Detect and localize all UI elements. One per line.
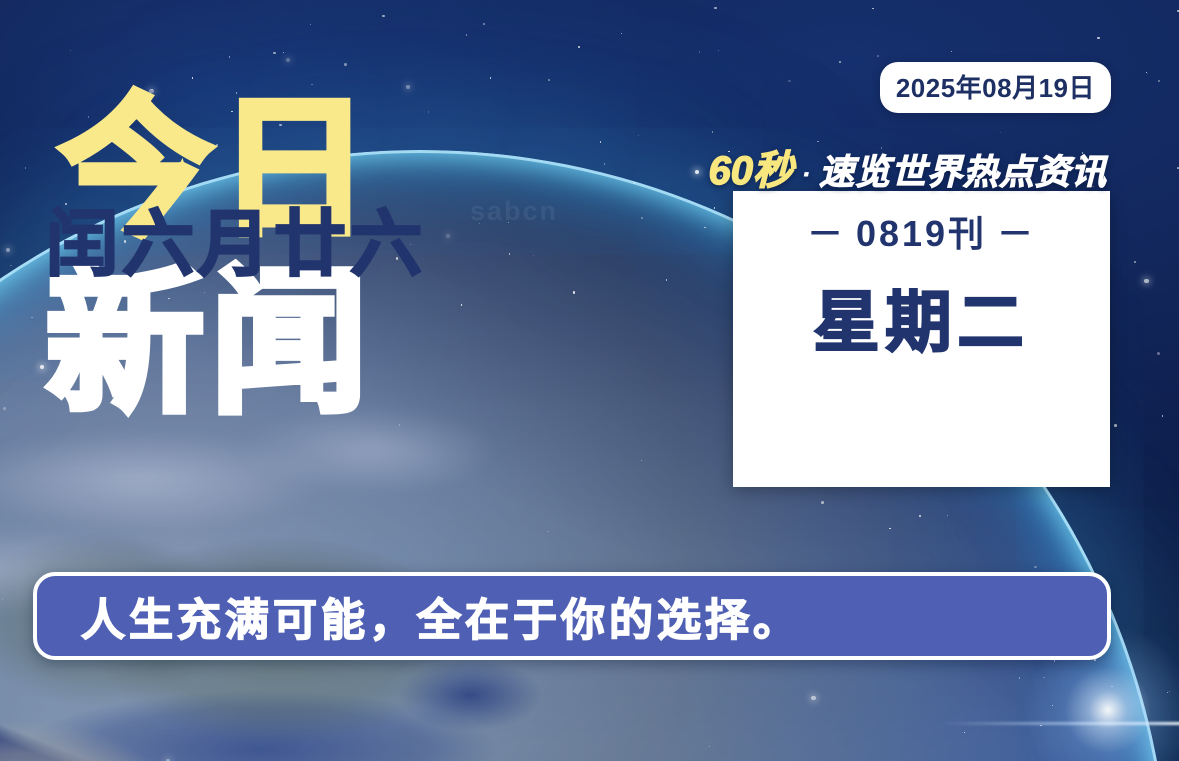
quote-text: 人生充满可能，全在于你的选择。 <box>37 584 801 648</box>
slogan-text: 速览世界热点资讯 <box>819 144 1107 195</box>
issue-dash-left: － <box>797 213 856 254</box>
issue-number: 0819刊 <box>856 213 987 254</box>
card-lunar-date: 闰六月廿六 <box>46 185 426 290</box>
slogan-row: 60秒 · 速览世界热点资讯 <box>708 138 1107 196</box>
card-weekday: 星期二 <box>733 269 1110 365</box>
slogan-separator-dot: · <box>799 158 813 192</box>
issue-dash-right: － <box>987 213 1046 254</box>
date-badge: 2025年08月19日 <box>880 62 1111 113</box>
card-issue-row: －0819刊－ <box>733 205 1110 257</box>
slogan-highlight: 60秒 <box>708 138 793 196</box>
quote-banner: 人生充满可能，全在于你的选择。 <box>33 572 1111 660</box>
info-card: －0819刊－ 星期二 <box>733 191 1110 487</box>
news-poster: sabcn 今日 新闻 2025年08月19日 60秒 · 速览世界热点资讯 －… <box>0 0 1179 761</box>
